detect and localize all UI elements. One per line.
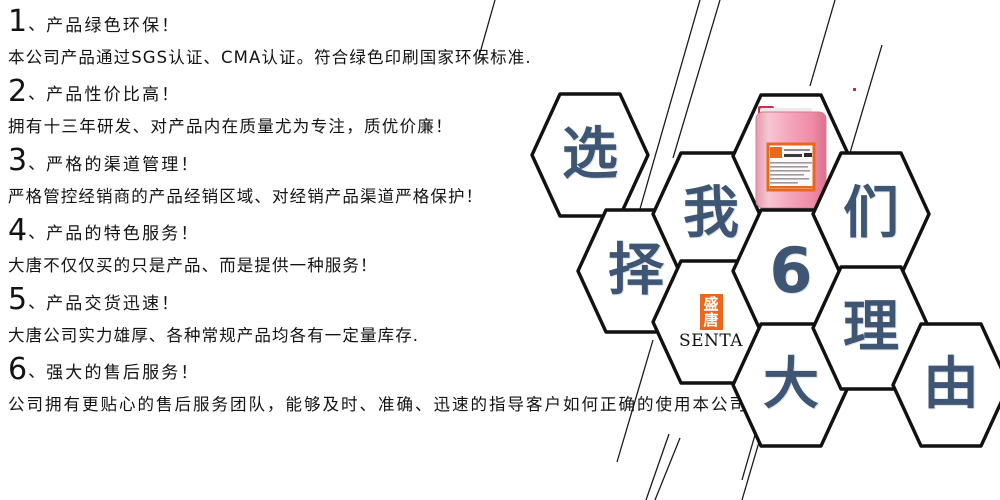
logo-char-sheng: 盛 <box>703 296 718 312</box>
logo-mark: 盛 唐 <box>700 294 723 330</box>
logo-char-tang: 唐 <box>703 312 718 328</box>
hex-cell-xuan: 选 <box>530 92 650 218</box>
hex-cell-you: 由 <box>891 322 1000 448</box>
promo-banner: 1 、 产品绿色环保！ 本公司产品通过SGS认证、CMA认证。符合绿色印刷国家环… <box>0 0 1000 500</box>
honeycomb-graphic: 选 择 我 盛 唐 SENTA <box>0 0 1000 500</box>
hex-cell-men: 们 <box>811 151 931 277</box>
